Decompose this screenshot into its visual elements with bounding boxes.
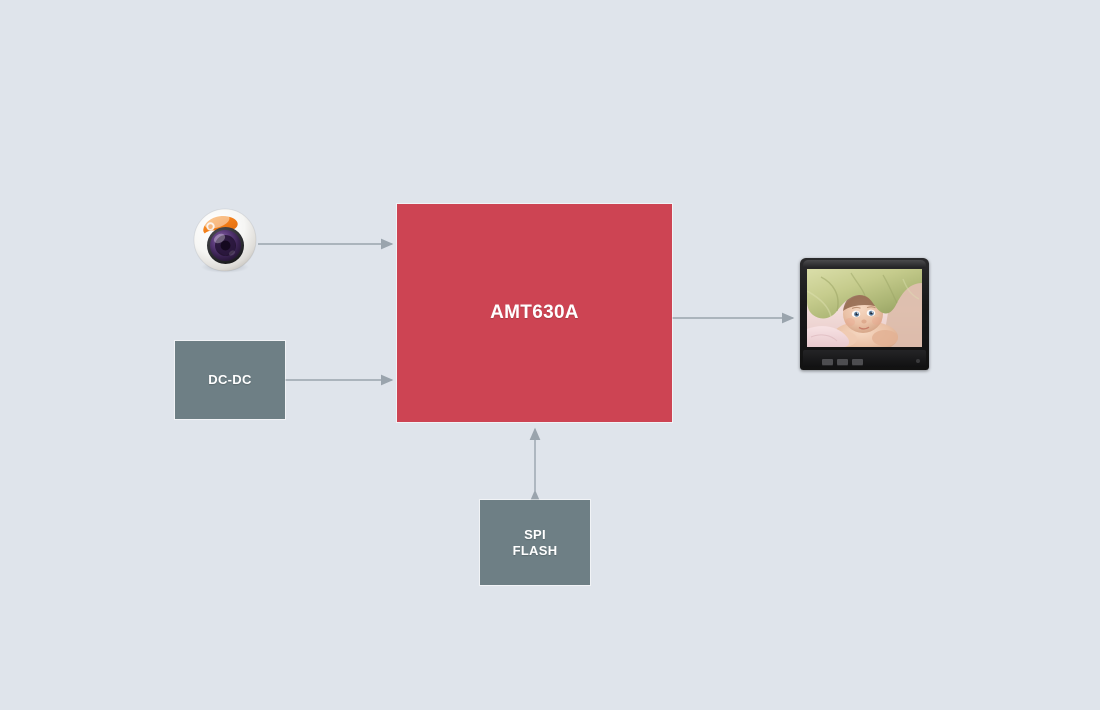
connector-soc-to-monitor <box>672 306 804 330</box>
camera-icon[interactable] <box>191 207 259 275</box>
block-amt630a[interactable]: AMT630A <box>397 204 672 422</box>
monitor-icon[interactable] <box>800 258 929 370</box>
block-spi-flash-label-line2: FLASH <box>513 543 558 558</box>
monitor-button-3[interactable] <box>852 359 863 365</box>
block-amt630a-label: AMT630A <box>490 301 579 324</box>
block-spi-flash-label-line1: SPI <box>524 527 546 542</box>
block-dc-dc[interactable]: DC-DC <box>175 341 285 419</box>
monitor-top-bar <box>803 260 926 268</box>
block-spi-flash[interactable]: SPI FLASH <box>480 500 590 585</box>
connector-soc-to-spiflash <box>523 420 547 502</box>
monitor-button-2[interactable] <box>837 359 848 365</box>
connector-camera-to-soc <box>258 232 403 256</box>
monitor-button-1[interactable] <box>822 359 833 365</box>
diagram-canvas: AMT630A DC-DC SPI FLASH <box>0 0 1100 710</box>
monitor-control-buttons[interactable] <box>822 359 863 365</box>
connector-dcdc-to-soc <box>285 368 403 392</box>
monitor-power-led <box>916 359 920 363</box>
monitor-screen <box>807 269 922 347</box>
block-dc-dc-label: DC-DC <box>208 372 251 388</box>
